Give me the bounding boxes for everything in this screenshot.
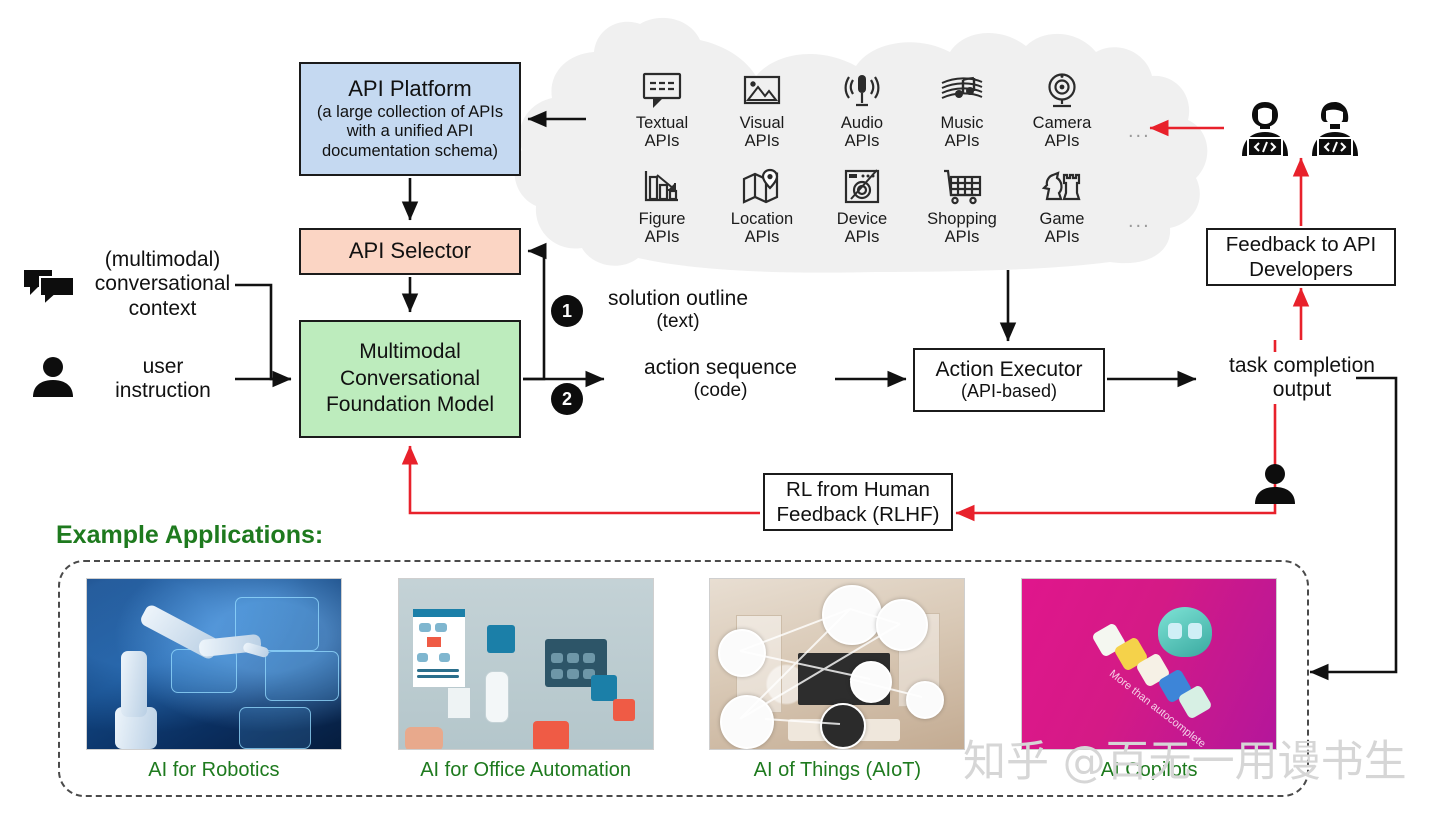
application-card-copilots[interactable]: More than autocomplete AI Copilots	[1020, 578, 1278, 782]
context-line-2: conversational	[60, 272, 265, 296]
api-developer-icon-2	[1304, 98, 1366, 165]
solution-outline-label: solution outline (text)	[580, 287, 776, 333]
smart-home-thumbnail	[709, 578, 965, 750]
feedback-line-1: Feedback to API	[1226, 232, 1376, 257]
api-sublabel: APIs	[745, 132, 780, 150]
task-output-line-1: task completion	[1204, 354, 1400, 378]
action-executor-subtitle: (API-based)	[961, 381, 1057, 402]
api-label: Music	[940, 114, 983, 132]
rlhf-line-2: Feedback (RLHF)	[777, 502, 940, 527]
context-line-3: context	[60, 297, 265, 321]
task-completion-output-label: task completion output	[1204, 354, 1400, 403]
api-item-audio[interactable]: Audio APIs	[812, 68, 912, 156]
api-sublabel: APIs	[845, 132, 880, 150]
task-output-line-2: output	[1204, 378, 1400, 402]
api-label: Visual	[740, 114, 785, 132]
api-item-location[interactable]: Location APIs	[712, 164, 812, 252]
map-pin-icon	[740, 164, 784, 210]
rlhf-box[interactable]: RL from Human Feedback (RLHF)	[763, 473, 953, 531]
api-selector-box[interactable]: API Selector	[299, 228, 521, 275]
api-platform-title: API Platform	[348, 77, 471, 102]
feedback-line-2: Developers	[1249, 257, 1353, 282]
api-item-figure[interactable]: Figure APIs	[612, 164, 712, 252]
copilot-thumbnail: More than autocomplete	[1021, 578, 1277, 750]
application-card-robotics[interactable]: AI for Robotics	[85, 578, 343, 782]
example-applications-title: Example Applications:	[56, 521, 323, 550]
user-line-1: user	[88, 355, 238, 379]
user-line-2: instruction	[88, 379, 238, 403]
api-label: Textual	[636, 114, 688, 132]
microphone-icon	[841, 68, 883, 114]
foundation-model-line-1: Multimodal	[359, 339, 461, 366]
api-platform-box[interactable]: API Platform (a large collection of APIs…	[299, 62, 521, 176]
api-platform-subtitle-1: (a large collection of APIs	[317, 103, 503, 122]
application-card-office[interactable]: AI for Office Automation	[397, 578, 655, 782]
action-sequence-main: action sequence	[618, 356, 823, 380]
rlhf-line-1: RL from Human	[786, 477, 930, 502]
solution-outline-main: solution outline	[580, 287, 776, 311]
step-badge-1: 1	[551, 295, 583, 327]
api-sublabel: APIs	[1045, 132, 1080, 150]
api-item-device[interactable]: Device APIs	[812, 164, 912, 252]
solution-outline-sub: (text)	[580, 311, 776, 333]
api-selector-title: API Selector	[349, 239, 471, 264]
api-item-textual[interactable]: Textual APIs	[612, 68, 712, 156]
api-item-music[interactable]: Music APIs	[912, 68, 1012, 156]
washing-machine-icon	[841, 164, 883, 210]
api-platform-subtitle-3: documentation schema)	[322, 142, 498, 161]
api-label: Device	[837, 210, 887, 228]
office-automation-thumbnail	[398, 578, 654, 750]
application-card-aiot[interactable]: AI of Things (AIoT)	[708, 578, 966, 782]
speech-bubble-icon	[641, 68, 683, 114]
cloud-ellipsis-top: ...	[1128, 120, 1151, 143]
user-instruction-label: user instruction	[88, 355, 238, 404]
action-executor-title: Action Executor	[935, 358, 1082, 382]
api-label: Shopping	[927, 210, 997, 228]
api-item-game[interactable]: Game APIs	[1012, 164, 1112, 252]
robotic-arm-thumbnail	[86, 578, 342, 750]
cloud-ellipsis-bottom: ...	[1128, 210, 1151, 233]
foundation-model-box[interactable]: Multimodal Conversational Foundation Mod…	[299, 320, 521, 438]
action-executor-box[interactable]: Action Executor (API-based)	[913, 348, 1105, 412]
user-person-icon	[30, 355, 76, 404]
shopping-cart-icon	[940, 164, 984, 210]
step-badge-2: 2	[551, 383, 583, 415]
api-item-shopping[interactable]: Shopping APIs	[912, 164, 1012, 252]
conversational-context-label: (multimodal) conversational context	[60, 248, 265, 321]
api-item-camera[interactable]: Camera APIs	[1012, 68, 1112, 156]
api-label: Location	[731, 210, 793, 228]
application-caption: AI for Robotics	[148, 759, 279, 782]
bar-chart-icon	[641, 164, 683, 210]
api-developer-icon-1	[1234, 98, 1296, 165]
chat-bubbles-icon	[22, 267, 76, 312]
api-category-grid: Textual APIs Visual APIs	[612, 68, 1132, 253]
diagram-canvas: Textual APIs Visual APIs	[0, 0, 1440, 813]
api-sublabel: APIs	[645, 132, 680, 150]
api-sublabel: APIs	[945, 132, 980, 150]
api-sublabel: APIs	[845, 228, 880, 246]
human-annotator-icon	[1252, 462, 1298, 511]
api-label: Game	[1040, 210, 1085, 228]
action-sequence-sub: (code)	[618, 380, 823, 402]
application-caption: AI for Office Automation	[420, 759, 631, 782]
api-item-visual[interactable]: Visual APIs	[712, 68, 812, 156]
webcam-icon	[1041, 68, 1083, 114]
application-caption: AI Copilots	[1101, 759, 1198, 782]
application-caption: AI of Things (AIoT)	[754, 759, 921, 782]
action-sequence-label: action sequence (code)	[618, 356, 823, 402]
api-sublabel: APIs	[945, 228, 980, 246]
api-sublabel: APIs	[645, 228, 680, 246]
context-line-1: (multimodal)	[60, 248, 265, 272]
image-picture-icon	[741, 68, 783, 114]
api-sublabel: APIs	[745, 228, 780, 246]
foundation-model-line-2: Conversational	[340, 366, 480, 393]
api-sublabel: APIs	[1045, 228, 1080, 246]
music-notes-icon	[939, 68, 985, 114]
api-label: Audio	[841, 114, 883, 132]
feedback-to-developers-box[interactable]: Feedback to API Developers	[1206, 228, 1396, 286]
example-applications-row: AI for Robotics	[58, 560, 1305, 793]
api-label: Camera	[1033, 114, 1092, 132]
chess-pieces-icon	[1040, 164, 1084, 210]
api-label: Figure	[639, 210, 686, 228]
foundation-model-line-3: Foundation Model	[326, 392, 494, 419]
api-platform-subtitle-2: with a unified API	[347, 122, 474, 141]
